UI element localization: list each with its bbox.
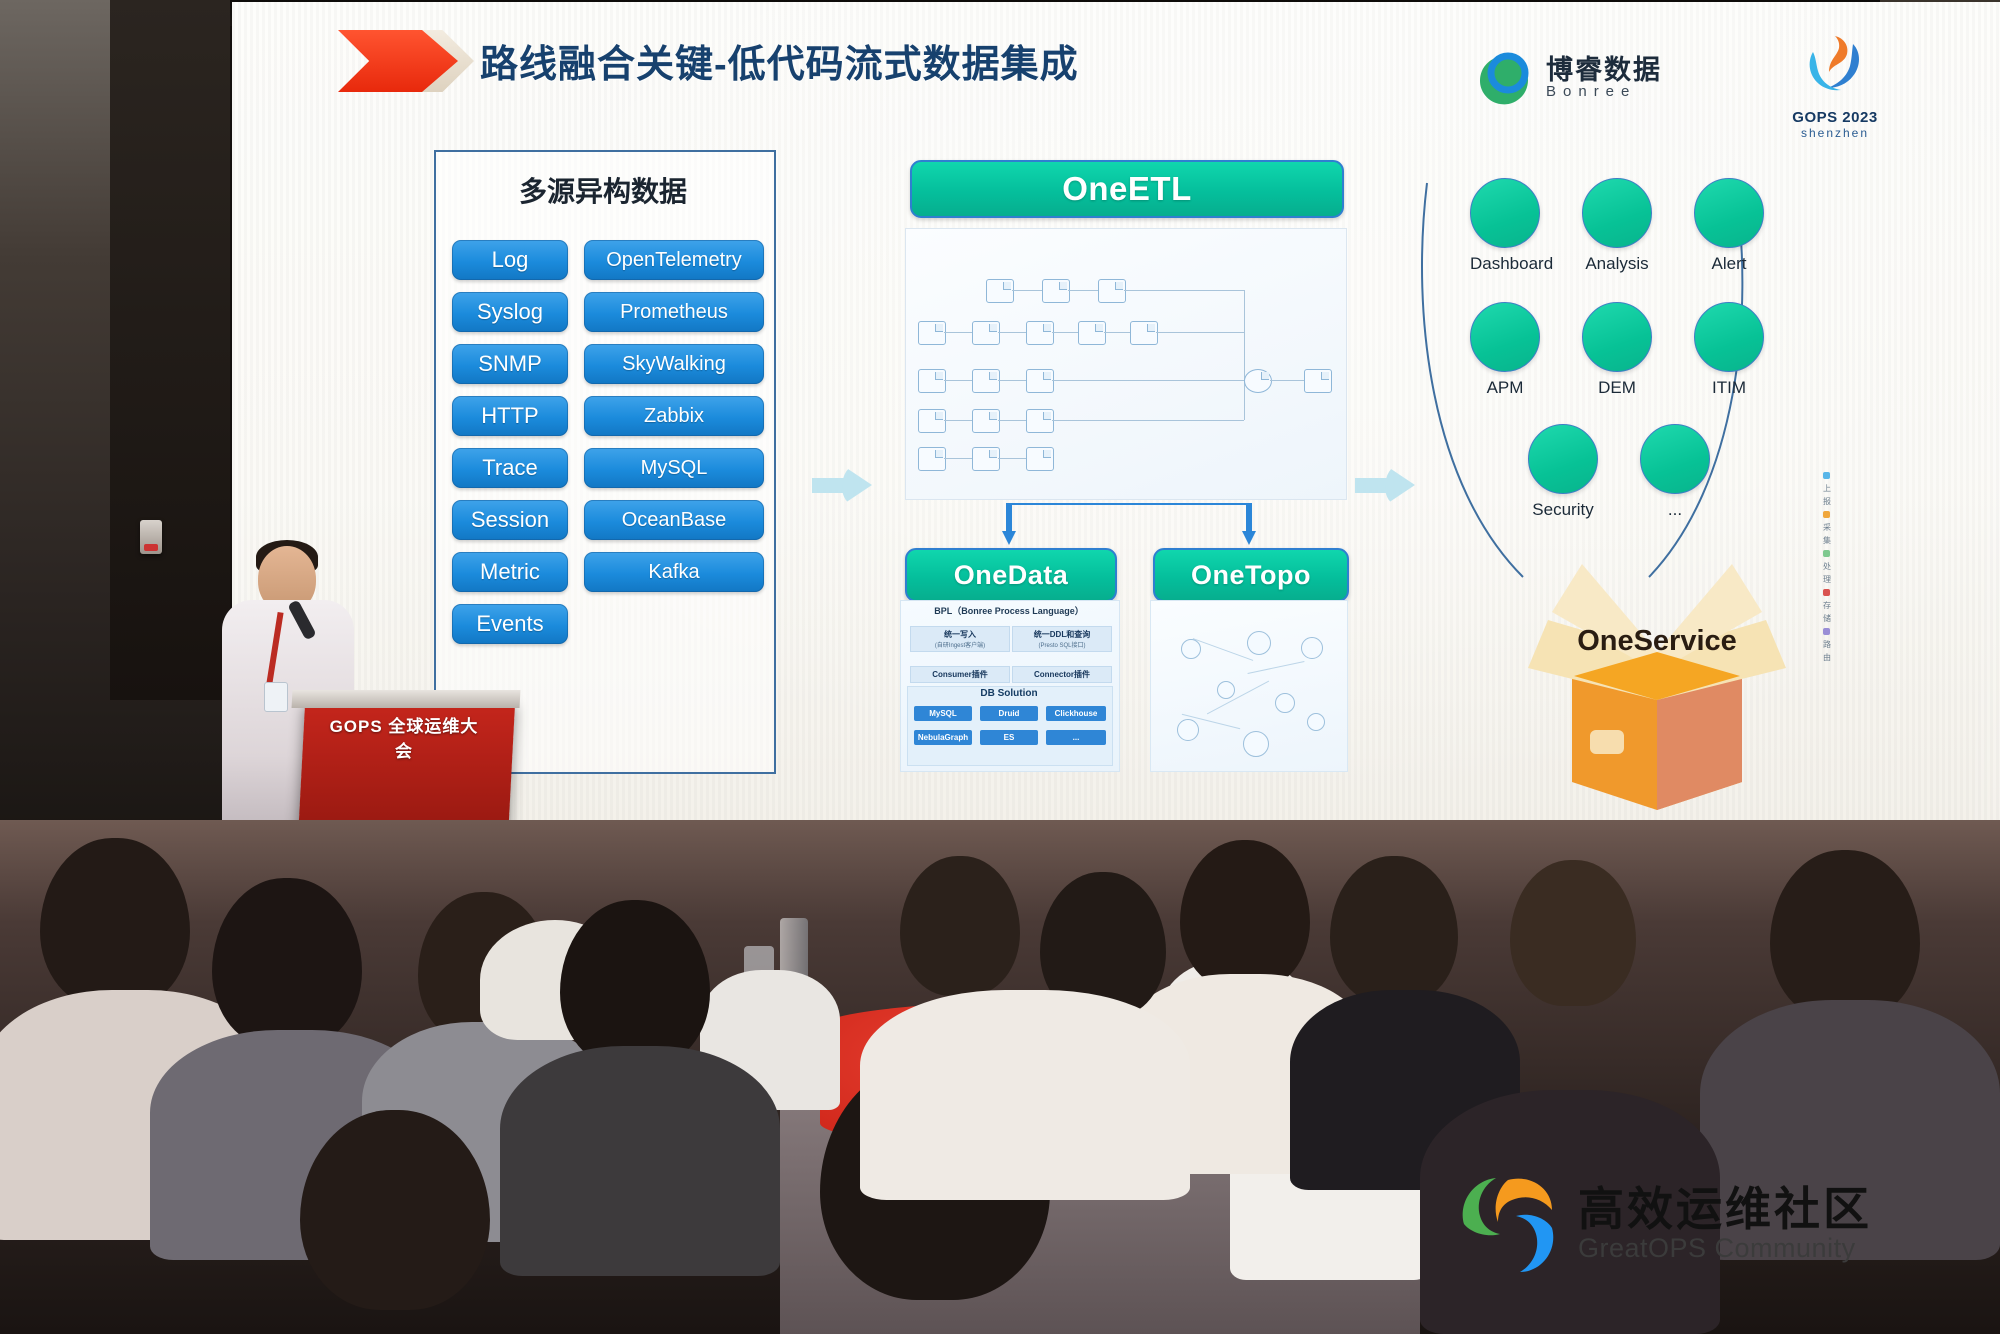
slide-title: 路线融合关键-低代码流式数据集成 (480, 33, 1079, 88)
audience-head (300, 1110, 490, 1310)
capability-itim: ITIM (1694, 302, 1764, 398)
capability-dashboard: Dashboard (1470, 178, 1553, 274)
capability-ball-icon (1470, 178, 1540, 248)
source-tag: Trace (452, 448, 568, 488)
arrow-down-onedata-icon (1002, 503, 1016, 547)
onedata-header: OneData (905, 548, 1117, 602)
onetopo-header: OneTopo (1153, 548, 1349, 602)
audience-head (1770, 850, 1920, 1020)
gops-title: GOPS 2023 (1770, 109, 1900, 126)
oneetl-legend: 上报 采集 处理 存储 路由 (1823, 469, 1834, 664)
audience-head (900, 856, 1020, 996)
bonree-name-en: Bonree (1546, 84, 1662, 100)
audience-body (860, 990, 1190, 1200)
source-tag: MySQL (584, 448, 764, 488)
source-tag: Prometheus (584, 292, 764, 332)
bonree-logo: 博睿数据 Bonree (1470, 45, 1662, 111)
source-tag: Kafka (584, 552, 764, 592)
source-tag: Events (452, 604, 568, 644)
source-tag: Log (452, 240, 568, 280)
onedata-connector-plugin: Connector插件 (1012, 666, 1112, 683)
source-tag: OpenTelemetry (584, 240, 764, 280)
capability-ball-icon (1640, 424, 1710, 494)
greatops-logo-icon (1452, 1168, 1564, 1280)
capability-ball-icon (1582, 302, 1652, 372)
capability-ball-icon (1528, 424, 1598, 494)
fire-alarm-icon (140, 520, 162, 554)
onedata-query-sub: (Presto SQL接口) (1013, 640, 1111, 649)
db-chip: Clickhouse (1046, 706, 1106, 721)
onedata-query-title: 统一DDL和查询 (1013, 629, 1111, 640)
source-tag: Metric (452, 552, 568, 592)
source-tag: Zabbix (584, 396, 764, 436)
arrow-down-onetopo-icon (1242, 503, 1256, 547)
data-sources-columns: Log Syslog SNMP HTTP Trace Session Metri… (452, 240, 758, 644)
gops-logo: GOPS 2023 shenzhen (1770, 30, 1900, 140)
flow-arrow-icon (812, 465, 872, 505)
speaker-badge (264, 682, 288, 712)
audience-head (560, 900, 710, 1068)
bonree-name-cn: 博睿数据 (1546, 56, 1662, 84)
capability-more: ... (1640, 424, 1710, 520)
source-tag: Syslog (452, 292, 568, 332)
capability-ball-icon (1694, 302, 1764, 372)
watermark: 高效运维社区 GreatOPS Community (1452, 1168, 1872, 1280)
watermark-cn: 高效运维社区 (1578, 1185, 1872, 1235)
capability-alert: Alert (1694, 178, 1764, 274)
audience-head (1330, 856, 1458, 1004)
onetopo-detail (1150, 600, 1348, 772)
oneservice-label: OneService (1512, 625, 1802, 658)
onedata-write-block: 统一写入 (自研Ingest客户端) (910, 626, 1010, 652)
left-wall-dark-panel (110, 0, 230, 700)
conference-photo: 路线融合关键-低代码流式数据集成 博睿数据 Bonree GOPS 2023 s… (0, 0, 2000, 1334)
onedata-write-title: 统一写入 (911, 629, 1009, 640)
capability-ball-icon (1470, 302, 1540, 372)
capability-security: Security (1528, 424, 1598, 520)
podium-label: GOPS 全球运维大会 (324, 712, 484, 762)
audience-head (40, 838, 190, 1008)
audience-head (212, 878, 362, 1048)
onedata-bpl-label: BPL（Bonree Process Language） (900, 604, 1118, 617)
db-chip: ... (1046, 730, 1106, 745)
bonree-mark-icon (1470, 45, 1536, 111)
audience-head (1510, 860, 1636, 1006)
onedata-db-solution-title: DB Solution (907, 688, 1111, 699)
oneservice-box-icon (1512, 560, 1802, 810)
db-chip: MySQL (914, 706, 972, 721)
audience-body (500, 1046, 780, 1276)
capability-ball-icon (1582, 178, 1652, 248)
db-chip: NebulaGraph (914, 730, 972, 745)
capability-apm: APM (1470, 302, 1540, 398)
db-chip: Druid (980, 706, 1038, 721)
source-tag: OceanBase (584, 500, 764, 540)
onedata-write-sub: (自研Ingest客户端) (911, 640, 1009, 649)
source-tag: HTTP (452, 396, 568, 436)
podium-top (292, 690, 521, 708)
audience-head (1180, 840, 1310, 990)
oneetl-header: OneETL (910, 160, 1344, 218)
db-chip: ES (980, 730, 1038, 745)
source-tag: SNMP (452, 344, 568, 384)
source-column-left: Log Syslog SNMP HTTP Trace Session Metri… (452, 240, 568, 644)
capability-dem: DEM (1582, 302, 1652, 398)
source-tag: SkyWalking (584, 344, 764, 384)
capability-analysis: Analysis (1582, 178, 1652, 274)
source-column-right: OpenTelemetry Prometheus SkyWalking Zabb… (584, 240, 764, 644)
oneetl-diagram: 上报 采集 处理 存储 路由 (905, 228, 1347, 500)
etl-branch-line (1008, 503, 1248, 505)
onedata-query-block: 统一DDL和查询 (Presto SQL接口) (1012, 626, 1112, 652)
watermark-en: GreatOPS Community (1578, 1234, 1872, 1263)
onedata-consumer-plugin: Consumer插件 (910, 666, 1010, 683)
source-tag: Session (452, 500, 568, 540)
data-sources-title: 多源异构数据 (434, 170, 772, 210)
gops-subtitle: shenzhen (1770, 126, 1900, 140)
capability-ball-icon (1694, 178, 1764, 248)
gops-mark-icon (1783, 30, 1887, 104)
